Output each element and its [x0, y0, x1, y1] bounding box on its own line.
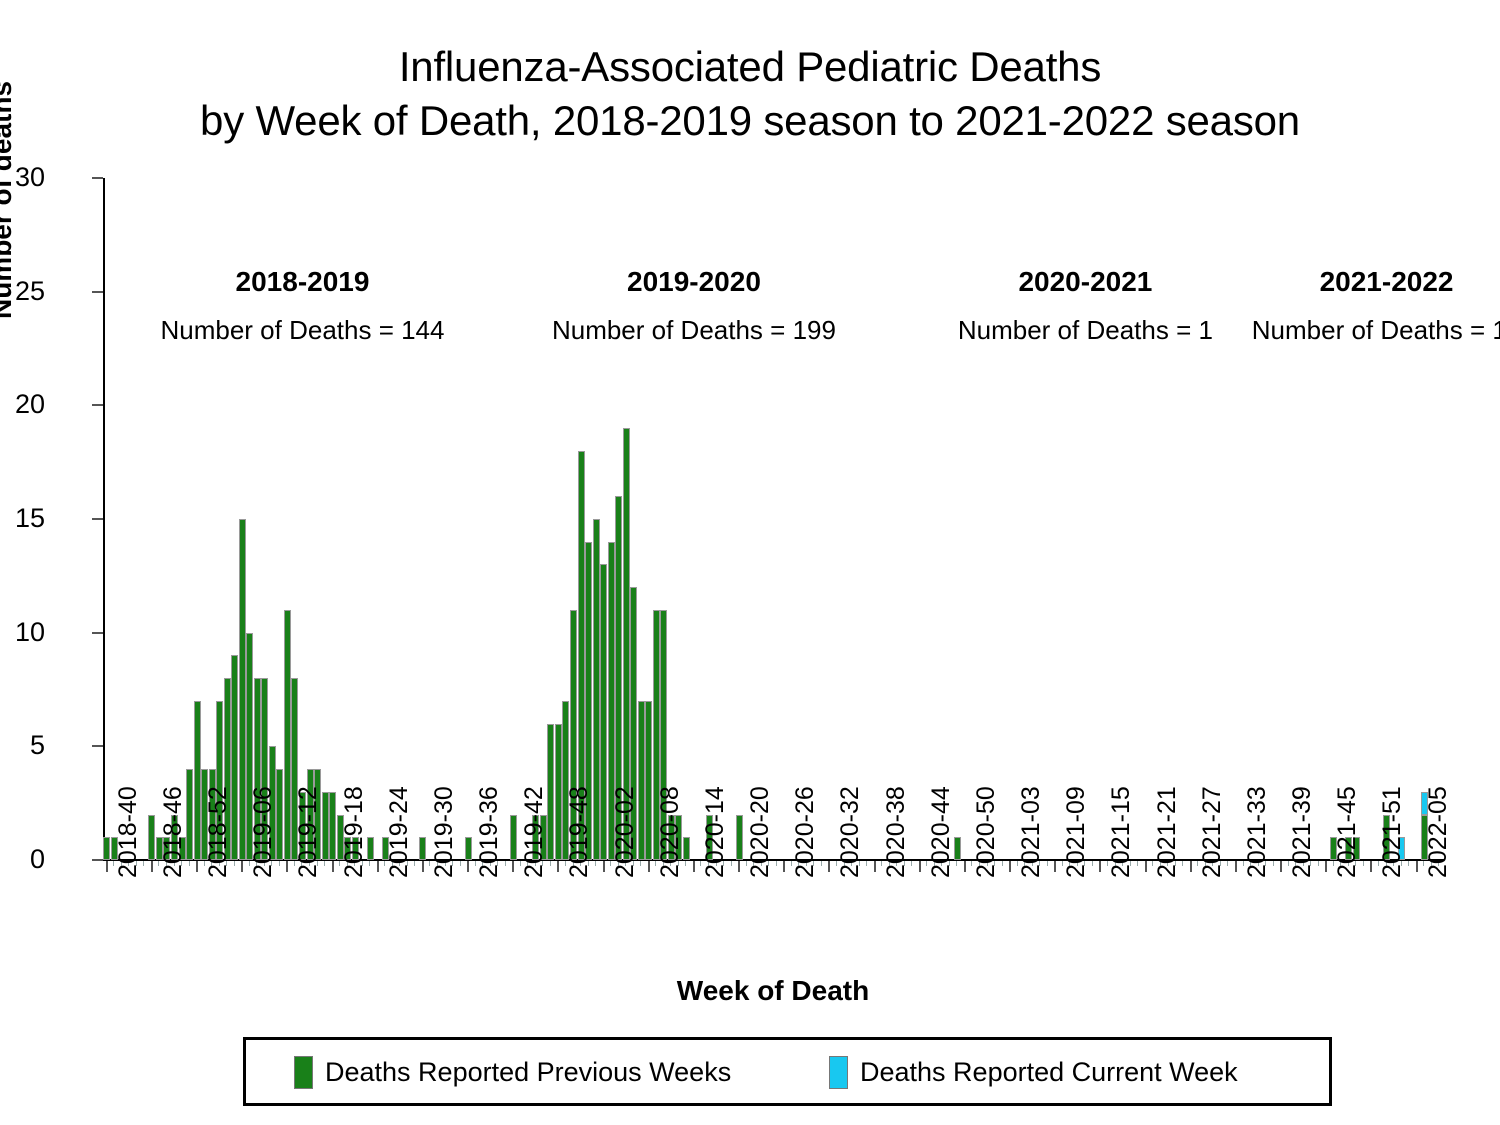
x-axis-tick-2021-21 [1145, 861, 1147, 872]
x-axis-tick-2020-25 [776, 861, 777, 866]
x-axis-tick-2019-12 [286, 861, 288, 872]
x-axis-tick-2021-33 [1235, 861, 1237, 872]
x-axis-tick-2019-24 [377, 861, 379, 872]
x-axis-tick-2021-39 [1280, 861, 1282, 872]
x-axis-tick-2018-46 [151, 861, 153, 872]
bar-segment-previous-weeks [276, 769, 283, 860]
bar-segment-previous-weeks [239, 519, 246, 860]
x-axis-tick-2020-38 [874, 861, 876, 872]
x-axis-tick-2018-45 [143, 861, 144, 866]
x-axis-tick-label-2021-03: 2021-03 [1019, 786, 1044, 878]
bar-segment-previous-weeks [736, 815, 743, 860]
x-axis-tick-2022-04 [1408, 861, 1409, 866]
bar-segment-previous-weeks [547, 724, 554, 860]
x-axis-tick-2019-29 [414, 861, 415, 866]
legend-item-previous-weeks: Deaths Reported Previous Weeks [294, 1056, 731, 1089]
y-axis-tick-20 [92, 404, 103, 406]
x-axis-tick-2020-44 [919, 861, 921, 872]
x-axis-tick-2021-14 [1092, 861, 1093, 866]
pediatric-flu-deaths-chart: Influenza-Associated Pediatric Deaths by… [0, 0, 1500, 1125]
bar-2019-17[interactable] [322, 792, 329, 860]
bar-2018-51[interactable] [186, 769, 193, 860]
legend-label-current-week: Deaths Reported Current Week [860, 1056, 1238, 1089]
x-axis-tick-2021-20 [1137, 861, 1138, 866]
x-axis-tick-2019-18 [332, 861, 334, 872]
bar-2019-12[interactable] [284, 610, 291, 860]
x-axis-tick-2019-41 [505, 861, 506, 866]
x-axis-tick-2018-51 [189, 861, 190, 866]
bar-segment-previous-weeks [103, 837, 110, 860]
x-axis-tick-label-2021-21: 2021-21 [1155, 786, 1180, 878]
bar-2019-47[interactable] [547, 724, 554, 860]
x-axis-tick-2020-43 [911, 861, 912, 866]
season-death-count-2018-2019: Number of Deaths = 144 [82, 313, 522, 347]
x-axis-tick-label-2021-09: 2021-09 [1064, 786, 1089, 878]
x-axis-tick-label-2018-52: 2018-52 [206, 786, 231, 878]
x-axis-tick-2020-07 [640, 861, 641, 866]
x-axis-tick-label-2020-20: 2020-20 [748, 786, 773, 878]
x-axis-tick-2020-49 [956, 861, 957, 866]
x-axis-tick-2022-05 [1416, 861, 1418, 872]
x-axis-tick-label-2020-02: 2020-02 [613, 786, 638, 878]
x-axis-tick-2021-15 [1099, 861, 1101, 872]
bar-segment-previous-weeks [322, 792, 329, 860]
x-axis-tick-label-2018-40: 2018-40 [116, 786, 141, 878]
bar-segment-previous-weeks [465, 837, 472, 860]
y-axis-tick-label-10: 10 [0, 619, 45, 646]
season-annotation-2021-2022: 2021-2022Number of Deaths = 10 [1167, 265, 1500, 347]
season-annotation-2018-2019: 2018-2019Number of Deaths = 144 [82, 265, 522, 347]
x-axis-tick-label-2019-48: 2019-48 [567, 786, 592, 878]
bar-2020-01[interactable] [593, 519, 600, 860]
x-axis-tick-2019-47 [550, 861, 551, 866]
bar-segment-previous-weeks [510, 815, 517, 860]
bar-2018-52[interactable] [194, 701, 201, 860]
bar-2019-18[interactable] [329, 792, 336, 860]
bar-segment-previous-weeks [231, 655, 238, 860]
x-axis-tick-2019-23 [369, 861, 370, 866]
x-axis-tick-2019-30 [422, 861, 424, 872]
bar-2020-02[interactable] [600, 564, 607, 860]
x-axis-tick-2020-26 [783, 861, 785, 872]
x-axis-tick-label-2021-51: 2021-51 [1380, 786, 1405, 878]
x-axis-tick-label-2020-50: 2020-50 [974, 786, 999, 878]
bar-segment-previous-weeks [148, 815, 155, 860]
chart-title-line-1: Influenza-Associated Pediatric Deaths [0, 40, 1500, 94]
y-axis-tick-label-20: 20 [0, 391, 45, 418]
x-axis-tick-2021-50 [1363, 861, 1364, 866]
x-axis-tick-label-2020-26: 2020-26 [793, 786, 818, 878]
legend-swatch-current-week [829, 1056, 848, 1089]
y-axis-tick-10 [92, 632, 103, 634]
x-axis-tick-label-2019-12: 2019-12 [296, 786, 321, 878]
season-annotation-2019-2020: 2019-2020Number of Deaths = 199 [474, 265, 914, 347]
y-axis-tick-label-5: 5 [0, 732, 45, 759]
x-axis-tick-2020-08 [648, 861, 650, 872]
x-axis-tick-label-2019-18: 2019-18 [342, 786, 367, 878]
season-death-count-2019-2020: Number of Deaths = 199 [474, 313, 914, 347]
legend-swatch-previous-weeks [294, 1056, 313, 1089]
season-death-count-2021-2022: Number of Deaths = 10 [1167, 313, 1500, 347]
x-axis-tick-2021-09 [1054, 861, 1056, 872]
x-axis-tick-2020-02 [603, 861, 605, 872]
x-axis-tick-2020-01 [595, 861, 596, 866]
x-axis-tick-2021-44 [1318, 861, 1319, 866]
x-axis-tick-2021-08 [1047, 861, 1048, 866]
x-axis-tick-2021-45 [1325, 861, 1327, 872]
bar-segment-previous-weeks [555, 724, 562, 860]
x-axis-tick-2020-50 [964, 861, 966, 872]
x-axis-tick-label-2021-33: 2021-33 [1245, 786, 1270, 878]
bar-segment-previous-weeks [194, 701, 201, 860]
x-axis-tick-label-2019-24: 2019-24 [387, 786, 412, 878]
x-axis-tick-label-2019-06: 2019-06 [251, 786, 276, 878]
x-axis-tick-label-2021-27: 2021-27 [1200, 786, 1225, 878]
x-axis-tick-2021-32 [1227, 861, 1228, 866]
x-axis-tick-label-2020-44: 2020-44 [929, 786, 954, 878]
bar-2019-48[interactable] [555, 724, 562, 860]
season-label-2021-2022: 2021-2022 [1167, 265, 1500, 299]
y-axis-tick-label-15: 15 [0, 505, 45, 532]
x-axis-tick-2021-27 [1190, 861, 1192, 872]
season-label-2018-2019: 2018-2019 [82, 265, 522, 299]
x-axis-tick-label-2018-46: 2018-46 [161, 786, 186, 878]
bar-2019-11[interactable] [276, 769, 283, 860]
x-axis-tick-2021-26 [1182, 861, 1183, 866]
y-axis-tick-30 [92, 177, 103, 179]
x-axis-tick-2019-36 [467, 861, 469, 872]
x-axis-tick-2020-19 [731, 861, 732, 866]
bar-2019-30[interactable] [419, 837, 426, 860]
bar-segment-previous-weeks [645, 701, 652, 860]
chart-title: Influenza-Associated Pediatric Deaths by… [0, 40, 1500, 148]
x-axis-tick-label-2020-14: 2020-14 [703, 786, 728, 878]
legend-item-current-week: Deaths Reported Current Week [829, 1056, 1238, 1089]
bar-segment-previous-weeks [593, 519, 600, 860]
x-axis-tick-2020-13 [685, 861, 686, 866]
bar-segment-previous-weeks [600, 564, 607, 860]
y-axis-tick-label-25: 25 [0, 278, 45, 305]
x-axis-tick-label-2019-30: 2019-30 [432, 786, 457, 878]
x-axis-tick-2021-51 [1370, 861, 1372, 872]
x-axis-tick-label-2021-15: 2021-15 [1109, 786, 1134, 878]
x-axis-tick-label-2021-45: 2021-45 [1335, 786, 1360, 878]
x-axis-tick-label-2022-05: 2022-05 [1426, 786, 1451, 878]
x-axis-tick-label-2019-36: 2019-36 [477, 786, 502, 878]
y-axis-tick-5 [92, 745, 103, 747]
bar-2019-06[interactable] [239, 519, 246, 860]
bar-2018-46[interactable] [148, 815, 155, 860]
y-axis-tick-15 [92, 518, 103, 520]
x-axis-tick-label-2020-38: 2020-38 [884, 786, 909, 878]
bar-2018-40[interactable] [103, 837, 110, 860]
bar-2020-20[interactable] [736, 815, 743, 860]
bar-segment-previous-weeks [284, 610, 291, 860]
x-axis-tick-label-2021-39: 2021-39 [1290, 786, 1315, 878]
bar-segment-previous-weeks [329, 792, 336, 860]
x-axis-tick-2021-03 [1009, 861, 1011, 872]
x-axis-tick-label-2019-42: 2019-42 [522, 786, 547, 878]
bar-2019-42[interactable] [510, 815, 517, 860]
x-axis-tick-2018-40 [106, 861, 108, 872]
x-axis-tick-2020-20 [738, 861, 740, 872]
x-axis-tick-2021-02 [1002, 861, 1003, 866]
x-axis-tick-2019-05 [234, 861, 235, 866]
x-axis-tick-2020-14 [693, 861, 695, 872]
x-axis-tick-2021-38 [1273, 861, 1274, 866]
x-axis-tick-2020-31 [821, 861, 822, 866]
chart-title-line-2: by Week of Death, 2018-2019 season to 20… [0, 94, 1500, 148]
x-axis-tick-2020-37 [866, 861, 867, 866]
x-axis-title: Week of Death [103, 975, 1443, 1007]
x-axis-tick-2020-32 [828, 861, 830, 872]
x-axis-tick-2019-11 [279, 861, 280, 866]
y-axis-tick-label-30: 30 [0, 164, 45, 191]
bar-2019-05[interactable] [231, 655, 238, 860]
x-axis-tick-2018-52 [196, 861, 198, 872]
x-axis-tick-2019-48 [557, 861, 559, 872]
x-axis-tick-2019-06 [241, 861, 243, 872]
x-axis-tick-label-2020-08: 2020-08 [658, 786, 683, 878]
x-axis-tick-label-2020-32: 2020-32 [838, 786, 863, 878]
legend: Deaths Reported Previous Weeks Deaths Re… [243, 1037, 1332, 1106]
bar-segment-previous-weeks [186, 769, 193, 860]
x-axis-tick-2019-17 [324, 861, 325, 866]
bar-segment-previous-weeks [419, 837, 426, 860]
x-axis-tick-2019-42 [512, 861, 514, 872]
bar-2020-08[interactable] [645, 701, 652, 860]
legend-label-previous-weeks: Deaths Reported Previous Weeks [325, 1056, 731, 1089]
y-axis-tick-0 [92, 859, 103, 861]
bar-2019-36[interactable] [465, 837, 472, 860]
season-label-2019-2020: 2019-2020 [474, 265, 914, 299]
y-axis-tick-label-0: 0 [0, 846, 45, 873]
x-axis-tick-2019-35 [460, 861, 461, 866]
